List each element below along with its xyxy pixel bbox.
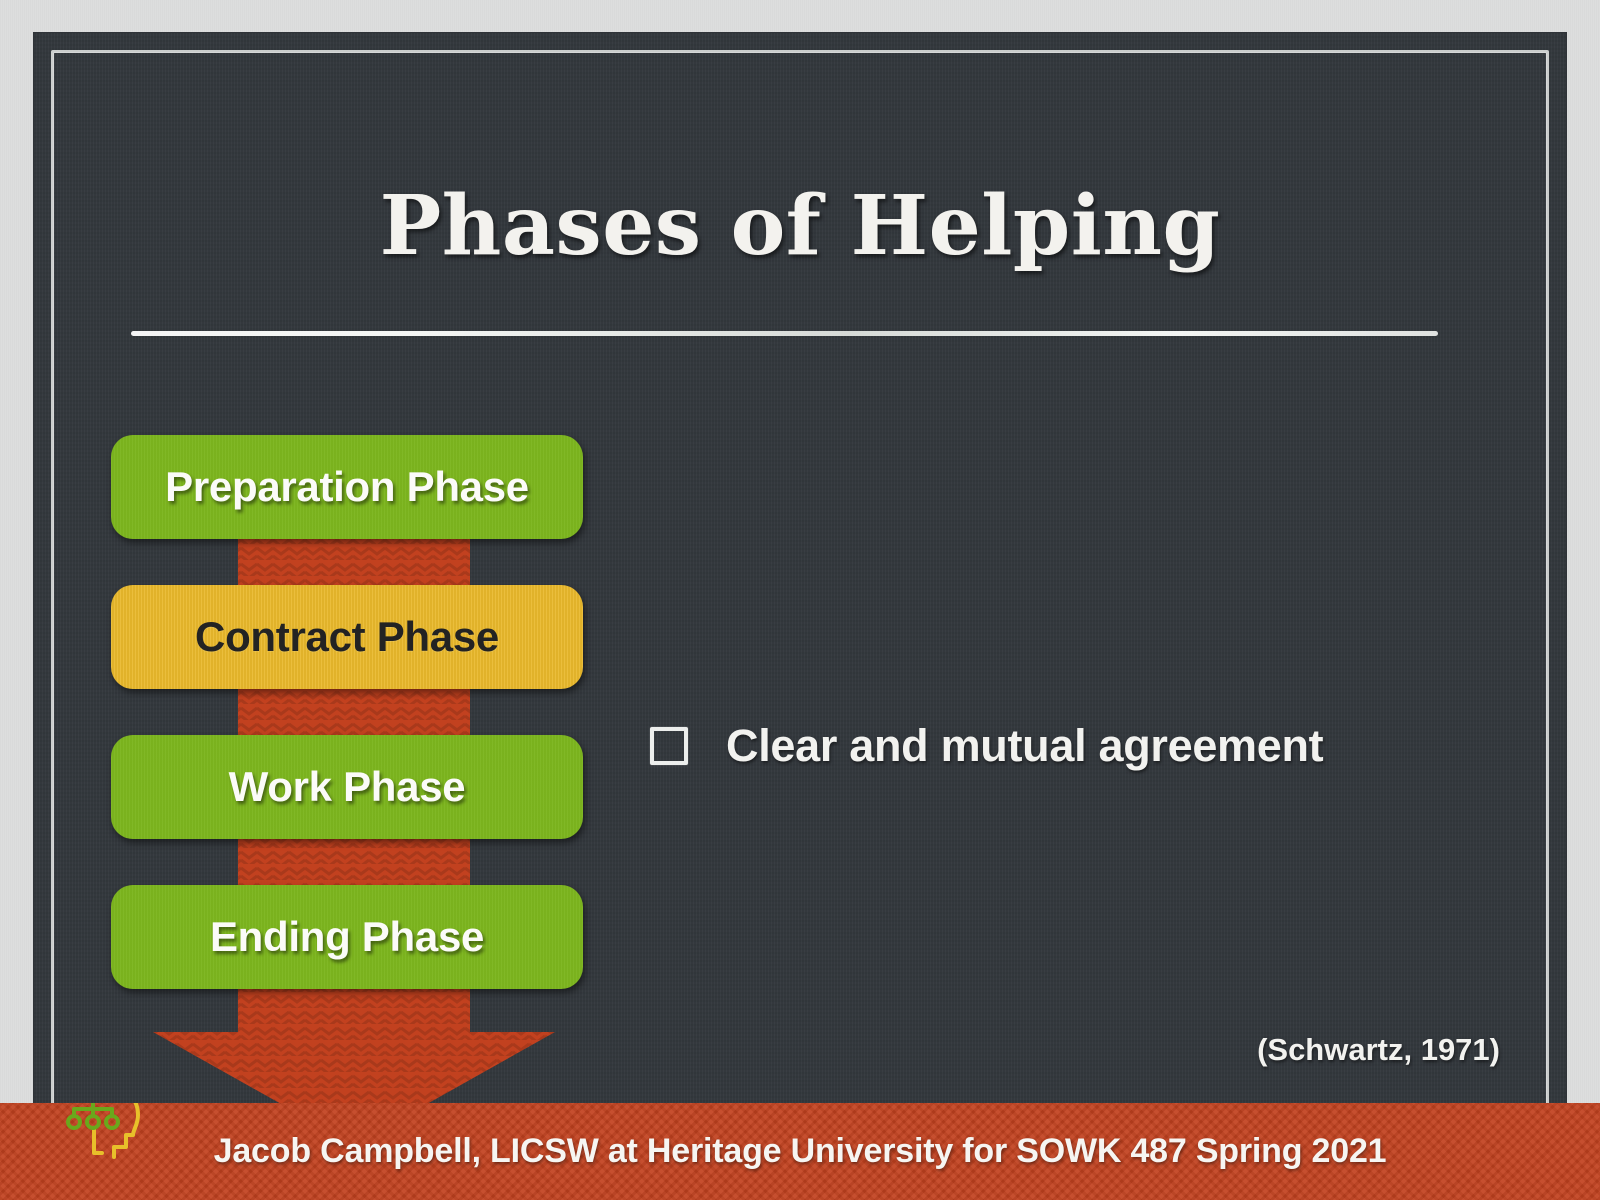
empty-square-bullet-icon [650,727,688,765]
phase-box-ending[interactable]: Ending Phase [111,885,583,989]
page-title: Phases of Helping [33,178,1567,274]
phase-box-work[interactable]: Work Phase [111,735,583,839]
footer-attribution-text: Jacob Campbell, LICSW at Heritage Univer… [214,1132,1387,1171]
title-divider-rule [131,331,1438,336]
bullet-text: Clear and mutual agreement [726,720,1323,772]
phase-box-preparation[interactable]: Preparation Phase [111,435,583,539]
bullet-list-item: Clear and mutual agreement [650,720,1323,772]
phase-label: Work Phase [229,763,466,811]
slide-canvas: Phases of Helping Preparation Phase [33,32,1567,1168]
phase-label: Contract Phase [195,613,499,661]
phase-box-contract[interactable]: Contract Phase [111,585,583,689]
footer-bar: Jacob Campbell, LICSW at Heritage Univer… [0,1103,1600,1200]
head-profile-flowchart-logo-icon [64,1103,156,1167]
phase-label: Preparation Phase [165,463,529,511]
slide-page: Phases of Helping Preparation Phase [0,0,1600,1200]
citation-reference: (Schwartz, 1971) [1257,1032,1500,1068]
phase-label: Ending Phase [210,913,484,961]
